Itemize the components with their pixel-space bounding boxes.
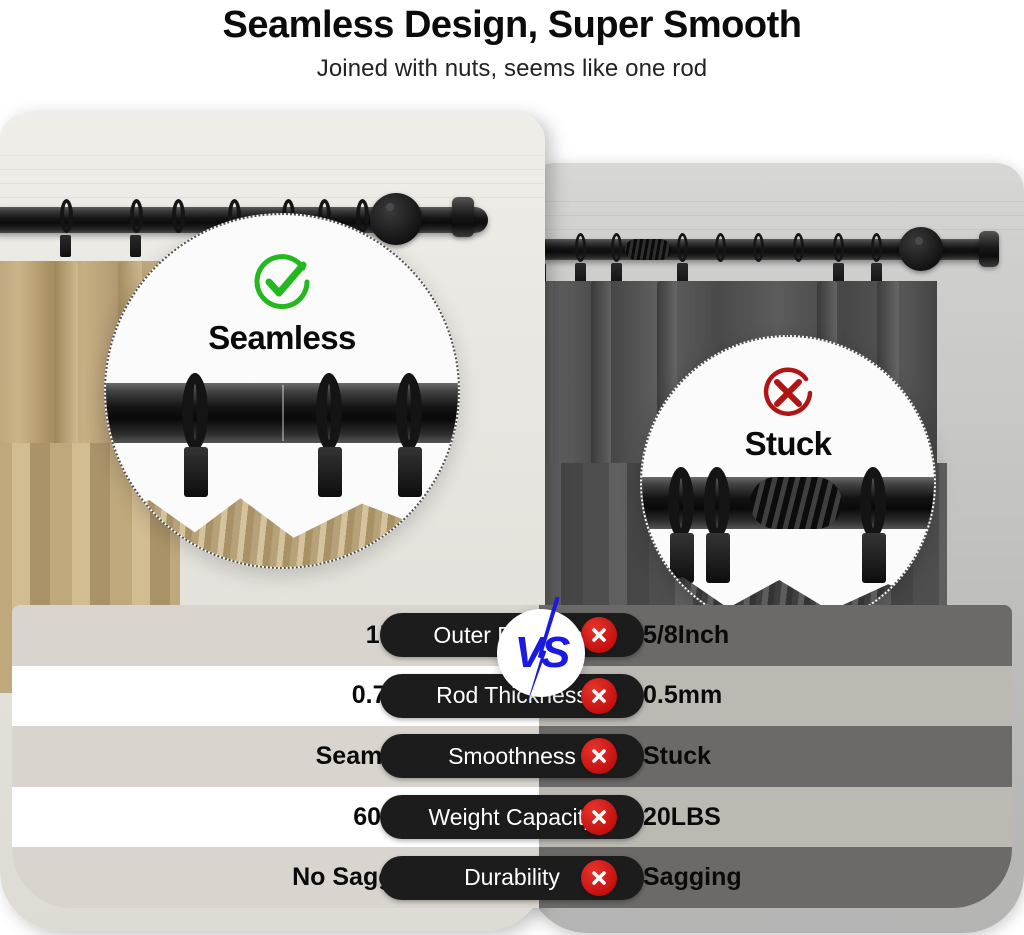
rod-finial bbox=[979, 231, 999, 267]
x-icon bbox=[581, 738, 617, 774]
x-icon bbox=[581, 799, 617, 835]
curtain-ring bbox=[611, 233, 622, 262]
rod-seam-line bbox=[282, 385, 284, 441]
magnified-ring bbox=[182, 373, 208, 451]
seamless-magnifier: Seamless bbox=[104, 213, 460, 569]
bad-value: 20LBS bbox=[643, 787, 721, 848]
magnified-clip bbox=[706, 533, 730, 583]
stuck-magnifier: Stuck bbox=[640, 335, 936, 631]
curtain-ring bbox=[356, 199, 369, 233]
x-icon bbox=[581, 678, 617, 714]
vs-badge: VS bbox=[497, 609, 585, 697]
magnified-clip bbox=[670, 533, 694, 583]
rod-bracket bbox=[370, 193, 422, 245]
curtain-clip bbox=[60, 235, 71, 257]
bad-value: 0.5mm bbox=[643, 666, 722, 727]
rod-finial bbox=[452, 197, 474, 237]
curtain-ring bbox=[715, 233, 726, 262]
page-title: Seamless Design, Super Smooth bbox=[0, 4, 1024, 47]
magnified-clip bbox=[398, 447, 422, 497]
curtain-ring bbox=[871, 233, 882, 262]
magnified-ring bbox=[704, 467, 730, 539]
magnified-ring bbox=[860, 467, 886, 539]
curtain-ring bbox=[753, 233, 764, 262]
bad-value: Stuck bbox=[643, 726, 711, 787]
x-icon bbox=[581, 860, 617, 896]
magnified-clip bbox=[184, 447, 208, 497]
rod-thread-coupling bbox=[750, 477, 842, 529]
table-row: No SaggingDurabilitySagging bbox=[12, 847, 1012, 908]
magnified-curtain bbox=[104, 491, 460, 569]
curtain-ring bbox=[677, 233, 688, 262]
magnified-ring bbox=[316, 373, 342, 451]
curtain-clip bbox=[130, 235, 141, 257]
rod-bracket bbox=[899, 227, 943, 271]
table-row: SeamlessSmoothnessStuck bbox=[12, 726, 1012, 787]
curtain-ring bbox=[833, 233, 844, 262]
magnified-clip bbox=[862, 533, 886, 583]
rod-threaded-joint bbox=[625, 239, 671, 260]
bad-value: Sagging bbox=[643, 847, 742, 908]
curtain-ring bbox=[575, 233, 586, 262]
page-subtitle: Joined with nuts, seems like one rod bbox=[0, 55, 1024, 83]
magnified-ring bbox=[396, 373, 422, 451]
curtain-ring bbox=[172, 199, 185, 233]
circle-check-icon bbox=[251, 251, 313, 318]
curtain-ring bbox=[60, 199, 73, 233]
table-row: 60LBSWeight Capacity20LBS bbox=[12, 787, 1012, 848]
magnified-clip bbox=[318, 447, 342, 497]
magnified-ring bbox=[668, 467, 694, 539]
curtain-ring bbox=[793, 233, 804, 262]
magnifier-label: Seamless bbox=[106, 319, 458, 357]
x-icon bbox=[581, 617, 617, 653]
magnifier-label: Stuck bbox=[642, 425, 934, 463]
curtain-ring bbox=[130, 199, 143, 233]
bad-value: 5/8Inch bbox=[643, 605, 729, 666]
circle-x-icon bbox=[760, 365, 816, 426]
header: Seamless Design, Super Smooth Joined wit… bbox=[0, 0, 1024, 83]
